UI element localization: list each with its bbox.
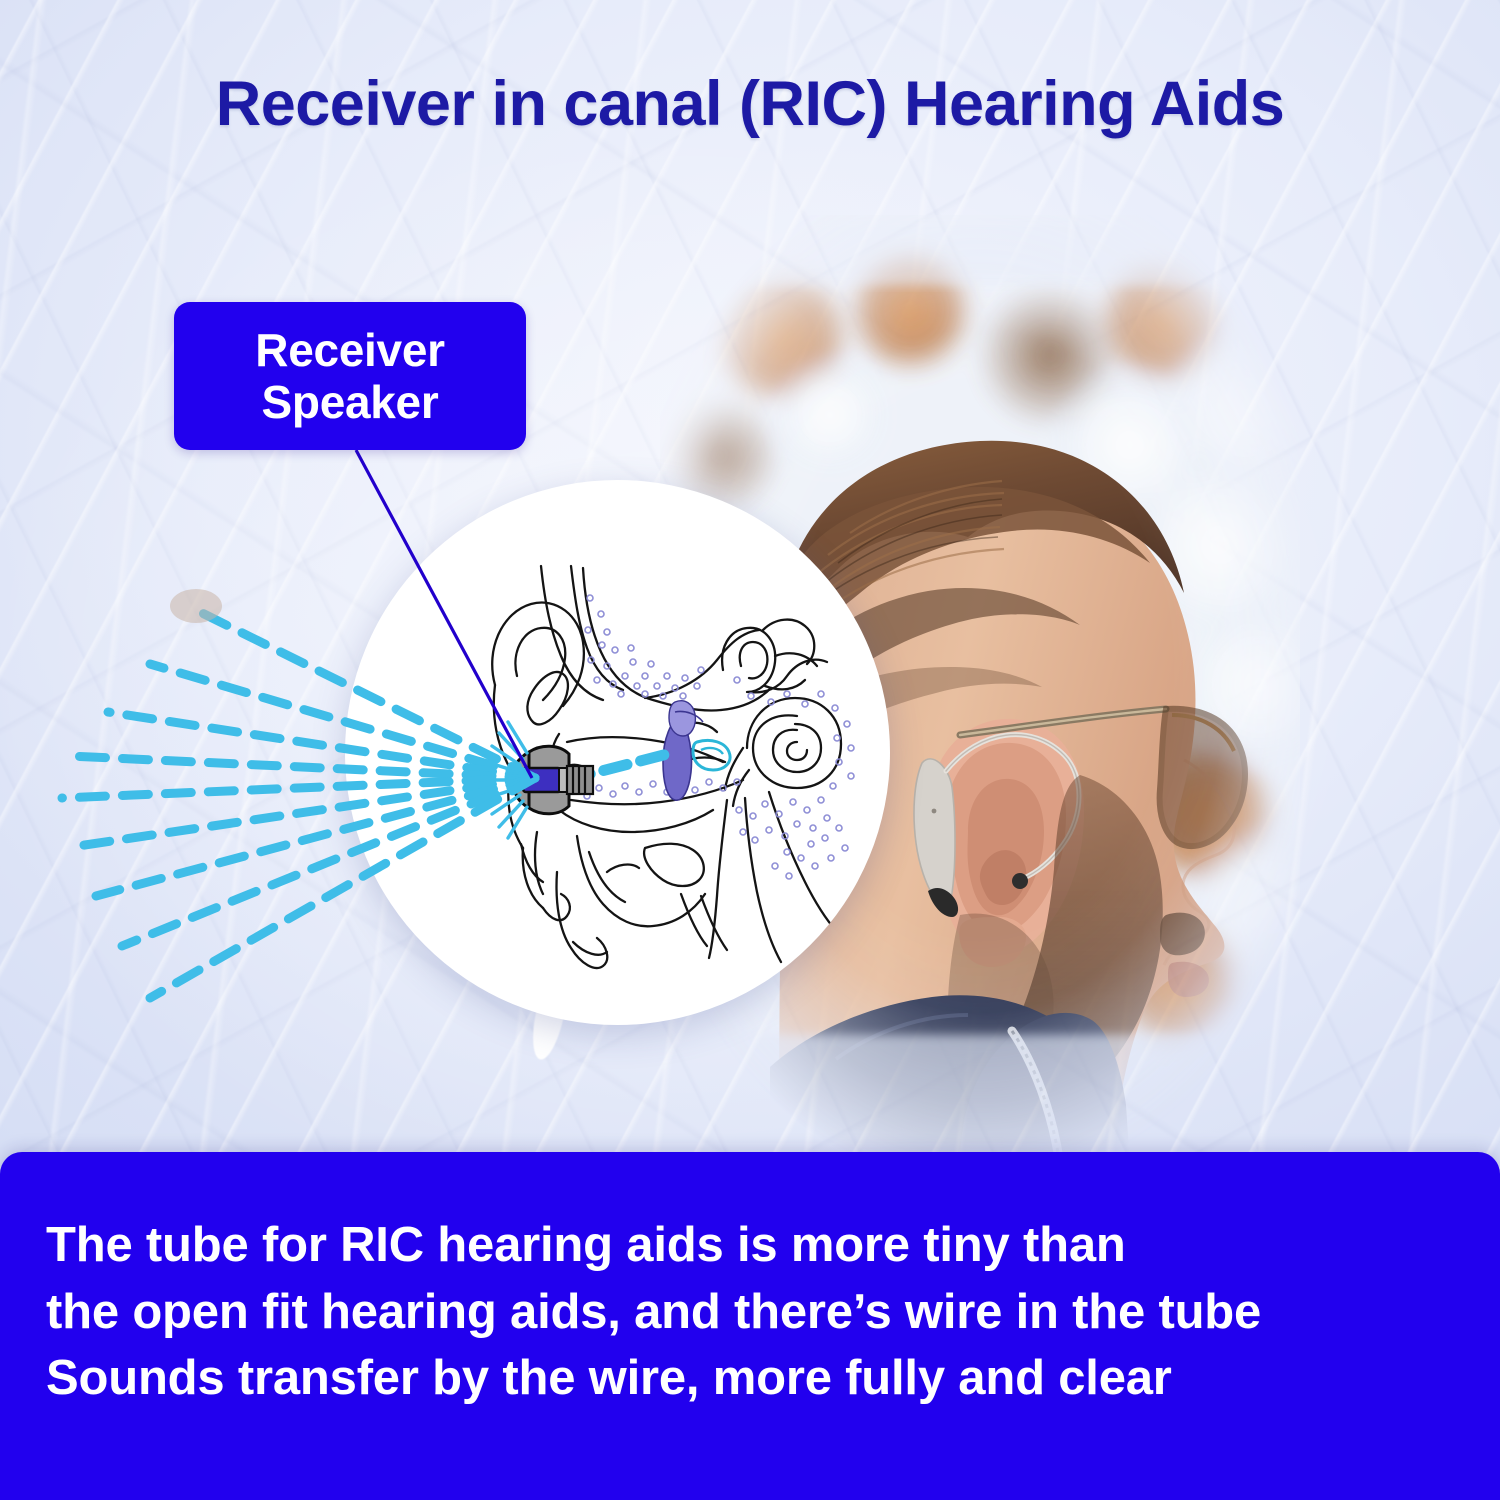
description-text: The tube for RIC hearing aids is more ti… (46, 1212, 1460, 1412)
page-title: Receiver in canal (RIC) Hearing Aids (0, 68, 1500, 140)
ear-anatomy-illustration (345, 480, 890, 1025)
description-banner: The tube for RIC hearing aids is more ti… (0, 1152, 1500, 1500)
receiver-speaker-callout[interactable]: Receiver Speaker (174, 302, 526, 450)
poster-canvas: Receiver Speaker Receiver in canal (RIC)… (0, 0, 1500, 1500)
receiver-speaker-label: Receiver Speaker (255, 324, 444, 429)
